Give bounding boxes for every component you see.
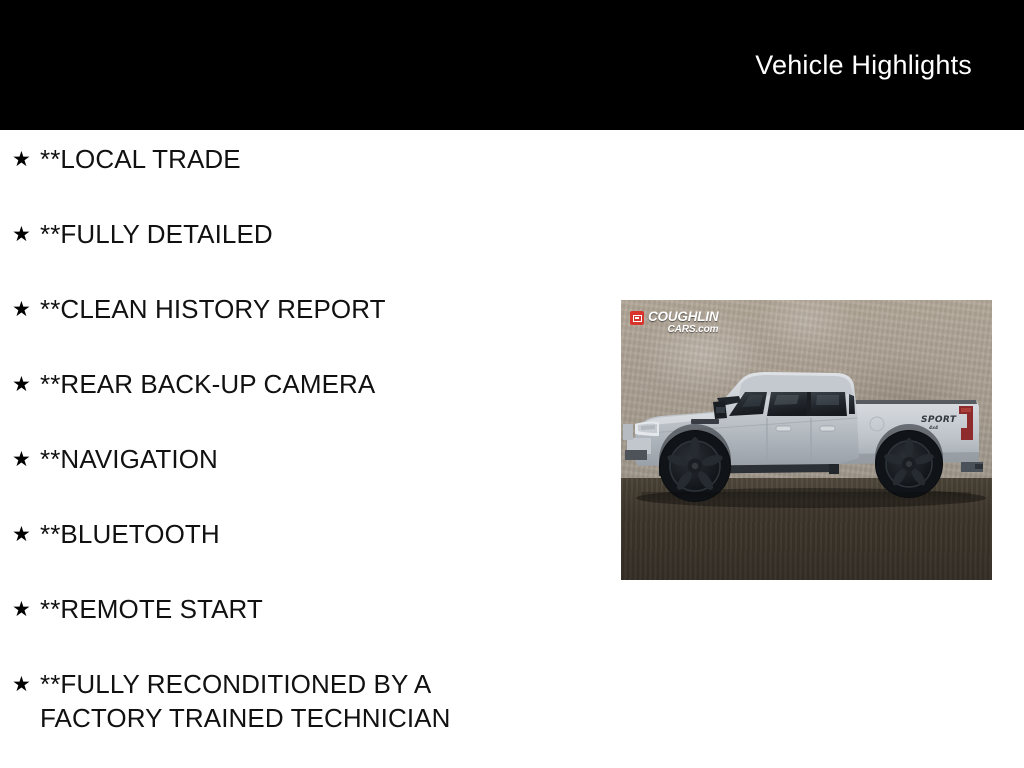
list-item-label: **REMOTE START: [40, 580, 620, 626]
svg-text:SPORT: SPORT: [921, 415, 957, 425]
list-item-label: **BLUETOOTH: [40, 505, 620, 551]
star-icon: ★: [12, 205, 40, 249]
list-item: ★ **CLEAN HISTORY REPORT: [0, 280, 620, 355]
list-item: ★ **BLUETOOTH: [0, 505, 620, 580]
list-item-label: **CLEAN HISTORY REPORT: [40, 280, 620, 326]
star-icon: ★: [12, 355, 40, 399]
star-icon: ★: [12, 280, 40, 324]
star-icon: ★: [12, 505, 40, 549]
list-item-label: **FULLY DETAILED: [40, 205, 620, 251]
svg-text:4x4: 4x4: [929, 425, 938, 431]
list-item-label: **FULLY RECONDITIONED BY A FACTORY TRAIN…: [40, 655, 620, 735]
star-icon: ★: [12, 130, 40, 174]
list-item-label: **NAVIGATION: [40, 430, 620, 476]
list-item: ★ **FULLY DETAILED: [0, 205, 620, 280]
star-icon: ★: [12, 580, 40, 624]
page-title: Vehicle Highlights: [755, 49, 972, 81]
list-item-label: **REAR BACK-UP CAMERA: [40, 355, 620, 401]
list-item: ★ **NAVIGATION: [0, 430, 620, 505]
header-bar: Vehicle Highlights: [0, 0, 1024, 130]
list-item: ★ **FULLY RECONDITIONED BY A FACTORY TRA…: [0, 655, 620, 730]
list-item: ★ **REMOTE START: [0, 580, 620, 655]
star-icon: ★: [12, 655, 40, 699]
list-item-label: **LOCAL TRADE: [40, 130, 620, 176]
vehicle-photo: COUGHLIN CARS.com: [621, 300, 992, 580]
list-item: ★ **REAR BACK-UP CAMERA: [0, 355, 620, 430]
list-item: ★ **LOCAL TRADE: [0, 130, 620, 205]
vehicle-highlights-list: ★ **LOCAL TRADE ★ **FULLY DETAILED ★ **C…: [0, 130, 620, 730]
truck-illustration: SPORT 4x4: [621, 362, 992, 522]
star-icon: ★: [12, 430, 40, 474]
